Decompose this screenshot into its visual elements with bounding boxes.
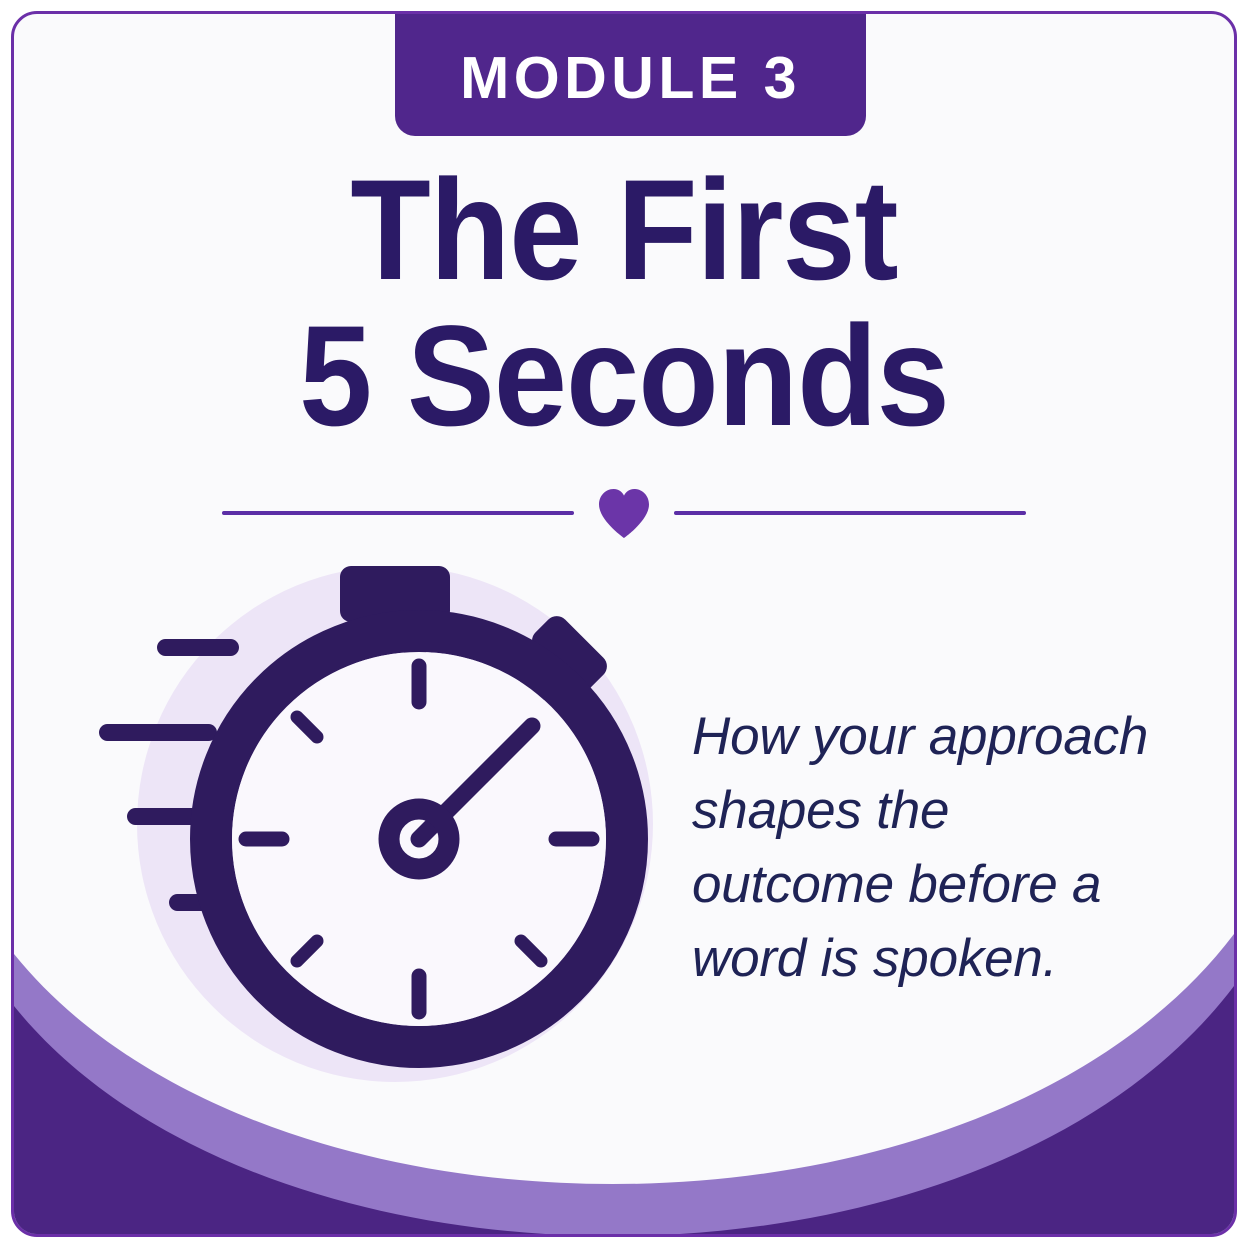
divider — [14, 487, 1234, 539]
title-line-1: The First — [63, 158, 1185, 304]
stopwatch-illustration — [99, 544, 679, 1104]
title-line-2: 5 Seconds — [63, 304, 1185, 450]
divider-rule-right — [674, 511, 1026, 515]
module-badge-label: MODULE 3 — [460, 39, 801, 108]
heart-icon — [596, 487, 652, 539]
divider-rule-left — [222, 511, 574, 515]
page-title: The First 5 Seconds — [14, 158, 1234, 450]
module-badge: MODULE 3 — [395, 11, 866, 136]
module-card: MODULE 3 The First 5 Seconds — [11, 11, 1237, 1237]
subtitle-text: How your approach shapes the outcome bef… — [692, 700, 1162, 996]
